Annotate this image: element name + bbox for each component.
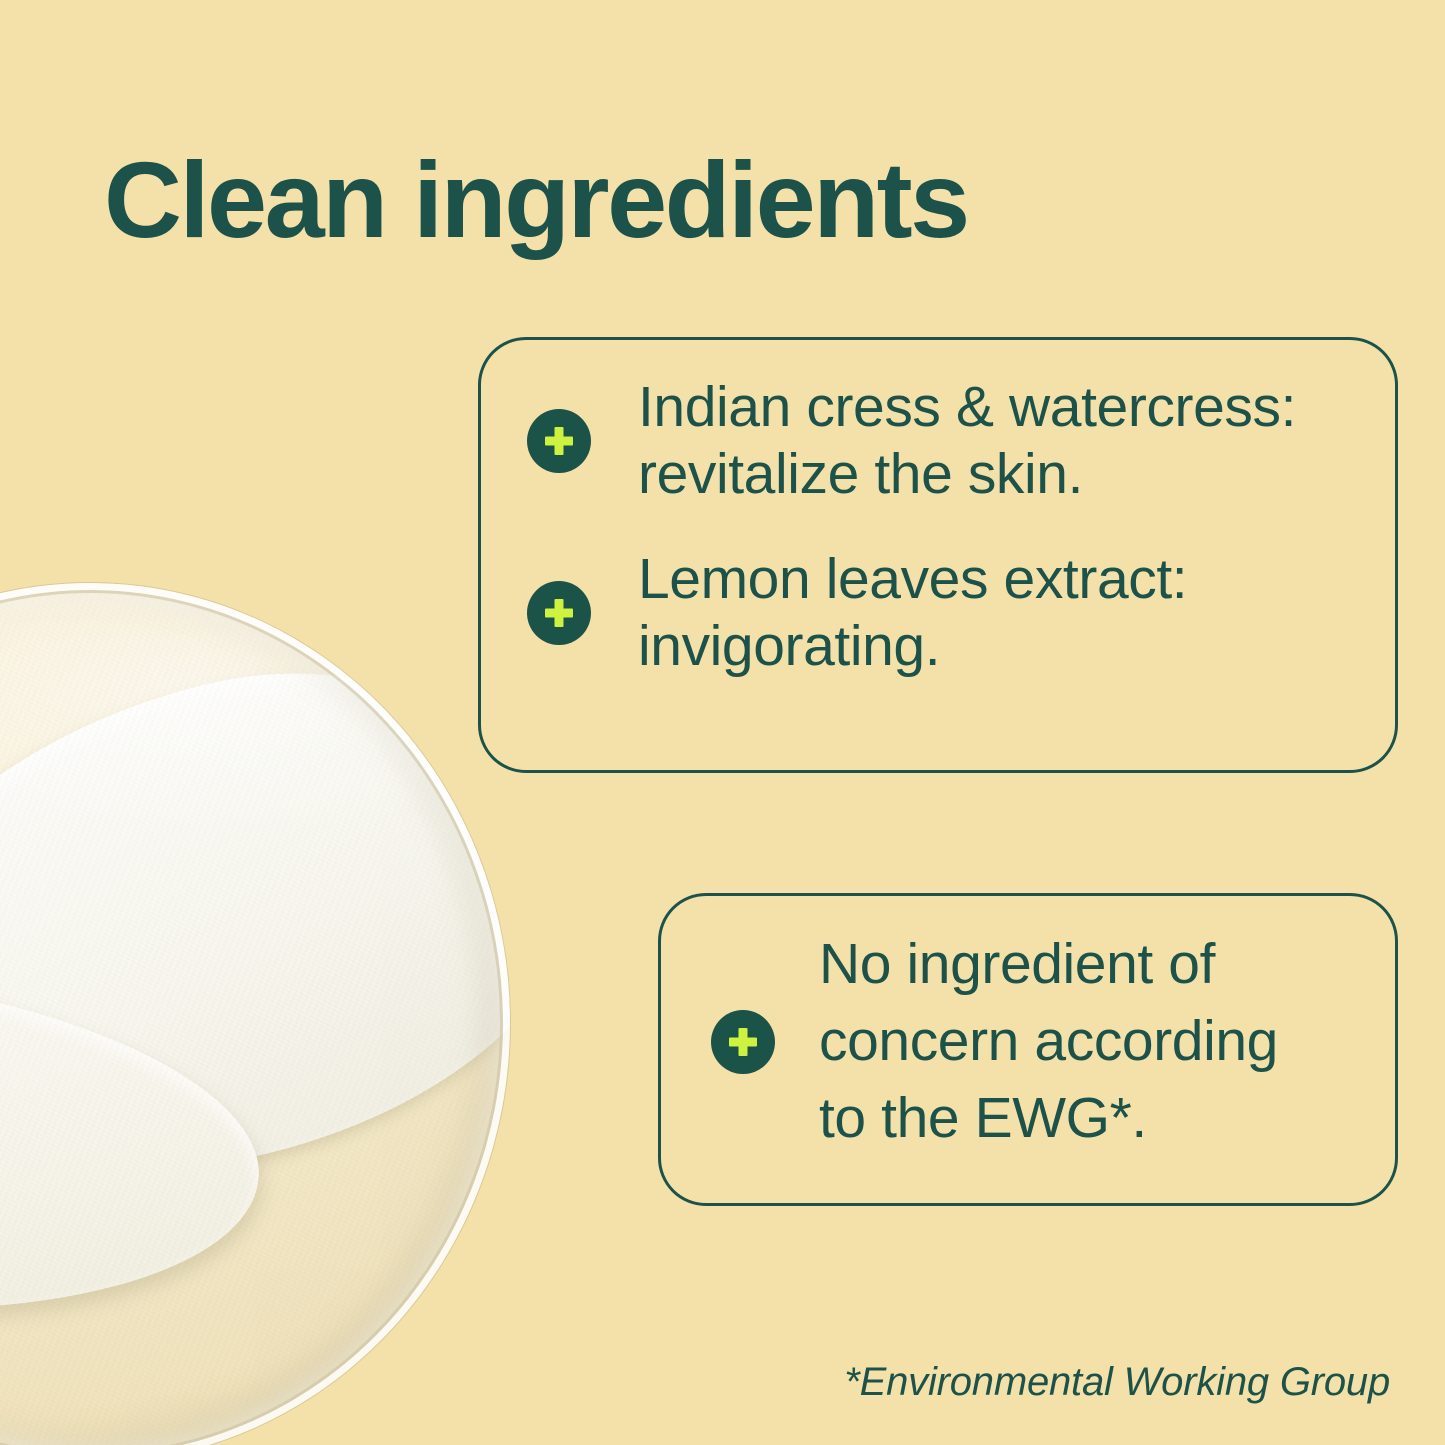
plus-icon: [527, 581, 591, 645]
list-item-label: Indian cress & watercress: revitalize th…: [638, 374, 1296, 508]
clean-ingredients-infographic: Clean ingredients Indian cress & watercr…: [0, 0, 1445, 1445]
plus-icon: [527, 409, 591, 473]
list-item: No ingredient of concern according to th…: [711, 926, 1371, 1157]
list-item: Lemon leaves extract: invigorating.: [527, 546, 1367, 680]
list-item-label: No ingredient of concern according to th…: [819, 926, 1278, 1157]
plus-icon: [711, 1010, 775, 1074]
page-title: Clean ingredients: [104, 146, 968, 254]
footnote-disclaimer: *Environmental Working Group: [844, 1360, 1390, 1405]
product-photo: [0, 583, 510, 1445]
list-item: Indian cress & watercress: revitalize th…: [527, 374, 1367, 508]
card-clean-ingredients: Indian cress & watercress: revitalize th…: [478, 337, 1398, 773]
list-item-label: Lemon leaves extract: invigorating.: [638, 546, 1187, 680]
card-ewg-claim: No ingredient of concern according to th…: [658, 893, 1398, 1206]
